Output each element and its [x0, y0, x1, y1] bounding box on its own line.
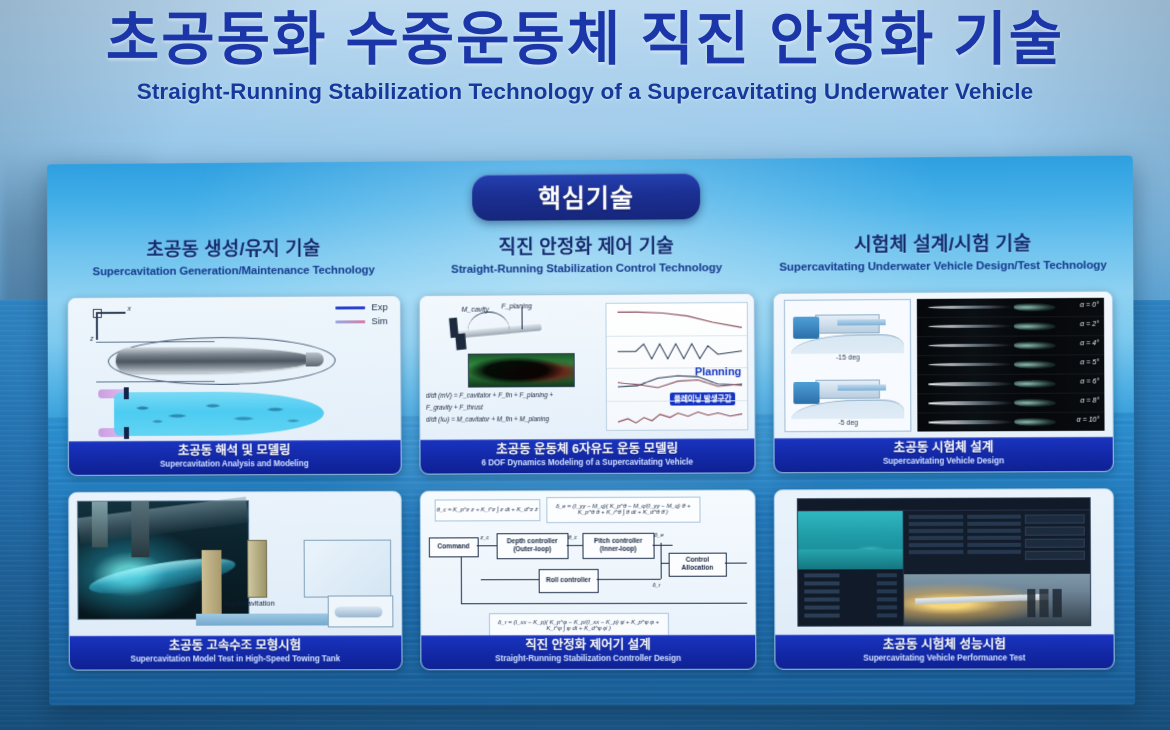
equation-depth-law: θ_c = K_p^z z + K_i^z ∫ z dt + K_d^z ż	[434, 499, 540, 521]
block-roll-controller: Roll controller	[538, 569, 598, 593]
column-supercavitation-generation: 초공동 생성/유지 기술 Supercavitation Generation/…	[67, 233, 402, 691]
card-caption-korean: 초공동 시험체 설계	[779, 440, 1109, 457]
shot-label: α = 10°	[1077, 417, 1100, 424]
plot-control-input	[607, 401, 747, 433]
vehicle-freebody-sketch	[433, 305, 551, 354]
cavitation-shot-strip: α = 0° α = 2° α = 4° α = 5° α = 6°	[917, 298, 1104, 432]
force-label-moment: M_cavity	[461, 307, 489, 314]
tank-struts	[88, 501, 177, 557]
right-pane	[904, 510, 1090, 625]
card-caption: 초공동 운동체 6자유도 운동 모델링 6 DOF Dynamics Model…	[420, 438, 755, 473]
poster-panel: 핵심기술 초공동 생성/유지 기술 Supercavitation Genera…	[47, 156, 1135, 706]
inset-vehicle	[334, 607, 382, 618]
card-figure: M_cavity F_planing d/dt (mV) = F_cavitat…	[419, 294, 754, 440]
card-caption: 초공동 시험체 설계 Supercavitating Vehicle Desig…	[775, 437, 1113, 472]
wire-sum-bus	[660, 543, 661, 579]
shot-alpha-10: α = 10°	[918, 413, 1105, 432]
card-performance-test: 초공동 시험체 성능시험 Supercavitating Vehicle Per…	[774, 488, 1115, 670]
equation-block: d/dt (mV) = F_cavitator + F_fin + F_plan…	[426, 390, 576, 427]
telemetry-list	[799, 569, 904, 625]
legend-item-sim: Sim	[336, 316, 388, 327]
signal-label-zc: z_c	[480, 535, 489, 541]
card-caption-korean: 초공동 시험체 성능시험	[780, 637, 1110, 653]
schematic-column-right	[247, 540, 267, 598]
cad-views: -15 deg -5 deg	[784, 299, 911, 432]
towing-tank-figure: Supercavitation	[69, 492, 401, 636]
card-caption: 초공동 시험체 성능시험 Supercavitating Vehicle Per…	[776, 634, 1114, 668]
axis-label-z: z	[90, 336, 93, 343]
card-towing-tank-test: Supercavitation 초공동 고속수조 모형시험 Supercavit…	[68, 491, 402, 671]
performance-test-figure	[775, 489, 1114, 635]
plot-pitch	[607, 368, 747, 401]
sixdof-figure: M_cavity F_planing d/dt (mV) = F_cavitat…	[419, 294, 754, 440]
cad-label-minus15: -15 deg	[786, 354, 911, 362]
shot-alpha-5: α = 5°	[917, 355, 1104, 375]
vehicle-tail	[306, 352, 324, 366]
core-technology-label: 핵심기술	[538, 179, 634, 216]
wire-feedback-bus	[461, 603, 747, 605]
equation-rotational: d/dt (Iω) = M_cavitator + M_fin + M_plan…	[426, 414, 576, 427]
equation-roll-law: δ_r = (I_xx − K_p)( K_p^φ − K_p/(I_xx − …	[489, 613, 669, 636]
figure-legend: Exp Sim	[336, 302, 388, 330]
axis-label-x: x	[127, 306, 130, 313]
video-preview	[798, 511, 903, 570]
cfd-cavity-diagram: x z Exp Sim	[68, 296, 400, 441]
equation-translational: d/dt (mV) = F_cavitator + F_fin + F_plan…	[426, 390, 576, 415]
card-figure	[775, 489, 1114, 635]
tank-schematic: Supercavitation	[196, 536, 395, 630]
legend-swatch-sim	[336, 320, 366, 323]
schematic-column-left	[202, 550, 222, 622]
column-title-english: Straight-Running Stabilization Control T…	[418, 262, 755, 276]
card-caption-english: Straight-Running Stabilization Controlle…	[425, 654, 752, 665]
design-figure: -15 deg -5 deg α = 0°	[774, 292, 1113, 439]
shot-alpha-8: α = 8°	[918, 394, 1105, 414]
card-caption-english: Supercavitation Analysis and Modeling	[73, 459, 397, 470]
column-title-english: Supercavitation Generation/Maintenance T…	[67, 264, 400, 278]
card-caption-korean: 초공동 해석 및 모델링	[73, 443, 397, 460]
cad-label-minus5: -5 deg	[786, 420, 911, 428]
column-vehicle-design-test: 시험체 설계/시험 기술 Supercavitating Underwater …	[773, 228, 1115, 691]
poster-screenshot: 초공동화 수중운동체 직진 안정화 기술 Straight-Running St…	[0, 0, 1170, 730]
shot-alpha-0: α = 0°	[917, 298, 1104, 318]
card-caption-english: Supercavitating Vehicle Design	[779, 456, 1109, 468]
schematic-label-supercavitation: Supercavitation	[224, 599, 275, 608]
card-vehicle-design: -15 deg -5 deg α = 0°	[773, 291, 1114, 474]
technology-columns: 초공동 생성/유지 기술 Supercavitation Generation/…	[67, 228, 1115, 691]
card-caption: 초공동 해석 및 모델링 Supercavitation Analysis an…	[69, 440, 401, 475]
plot-planing-region: Planning 플레이닝 발생구간	[607, 336, 747, 369]
legend-item-exp: Exp	[336, 302, 388, 313]
legend-label-sim: Sim	[371, 316, 387, 327]
left-pane	[798, 511, 904, 626]
wire-allocation-out	[724, 563, 746, 564]
signal-label-thetac: θ_c	[568, 535, 577, 541]
card-caption-korean: 초공동 고속수조 모형시험	[74, 638, 398, 654]
schematic-inset	[327, 596, 393, 628]
axis-indicator-icon: x z	[90, 306, 136, 344]
column-header: 시험체 설계/시험 기술 Supercavitating Underwater …	[773, 228, 1113, 293]
column-stabilization-control: 직진 안정화 제어 기술 Straight-Running Stabilizat…	[418, 231, 757, 691]
core-technology-banner: 핵심기술	[472, 173, 700, 221]
wire-pitch-sum	[652, 545, 672, 546]
shot-label: α = 5°	[1080, 359, 1099, 366]
wire-command-depth	[476, 545, 496, 546]
shot-label: α = 4°	[1080, 340, 1099, 347]
shot-alpha-6: α = 6°	[918, 374, 1105, 394]
card-caption-english: Supercavitation Model Test in High-Speed…	[74, 654, 398, 665]
card-figure: -15 deg -5 deg α = 0°	[774, 292, 1113, 439]
equation-pitch-law: δ_e = (I_yy − M_q)( K_p^θ − M_q/(I_yy − …	[546, 497, 700, 524]
block-depth-controller: Depth controller (Outer-loop)	[496, 533, 568, 559]
signal-label-elevator: δ_e	[654, 533, 663, 539]
block-pitch-controller: Pitch controller (Inner-loop)	[582, 533, 654, 559]
legend-label-exp: Exp	[371, 302, 387, 313]
cavitation-tunnel-photo	[468, 353, 575, 388]
card-6dof-modeling: M_cavity F_planing d/dt (mV) = F_cavitat…	[418, 293, 755, 475]
test-facility-photo	[904, 574, 1090, 626]
shot-label: α = 8°	[1080, 398, 1099, 405]
control-block-diagram: θ_c = K_p^z z + K_i^z ∫ z dt + K_d^z ż δ…	[420, 490, 755, 635]
card-caption: 초공동 고속수조 모형시험 Supercavitation Model Test…	[70, 635, 402, 669]
cad-view-minus15: -15 deg	[785, 300, 910, 366]
wire-feedback-vertical	[460, 557, 461, 603]
plot-depth	[607, 303, 747, 336]
cavity-bubble-texture	[128, 399, 306, 428]
card-figure: θ_c = K_p^z z + K_i^z ∫ z dt + K_d^z ż δ…	[420, 490, 755, 635]
card-caption-korean: 직진 안정화 제어기 설계	[425, 638, 752, 654]
column-title-korean: 초공동 생성/유지 기술	[67, 233, 400, 262]
poster-title-block: 초공동화 수중운동체 직진 안정화 기술 Straight-Running St…	[0, 8, 1170, 105]
block-control-allocation: Control Allocation	[668, 553, 726, 577]
shot-alpha-4: α = 4°	[917, 336, 1104, 356]
column-title-korean: 시험체 설계/시험 기술	[773, 228, 1113, 257]
poster-title-korean: 초공동화 수중운동체 직진 안정화 기술	[0, 8, 1170, 73]
schematic-tank-body	[303, 540, 391, 598]
wire-depth-pitch	[566, 545, 582, 546]
time-history-plots: Planning 플레이닝 발생구간	[606, 302, 749, 431]
wire-feedback-roll	[480, 579, 538, 580]
poster-title-english: Straight-Running Stabilization Technolog…	[0, 79, 1170, 105]
window-body	[798, 510, 1090, 625]
cavity-marker-top	[124, 387, 129, 399]
card-figure: x z Exp Sim	[68, 296, 400, 441]
parameter-panel	[904, 510, 1090, 574]
card-caption: 직진 안정화 제어기 설계 Straight-Running Stabiliza…	[421, 635, 756, 669]
column-title-english: Supercavitating Underwater Vehicle Desig…	[773, 259, 1113, 273]
shot-label: α = 0°	[1080, 302, 1099, 309]
legend-swatch-exp	[336, 306, 366, 309]
card-caption-english: 6 DOF Dynamics Modeling of a Supercavita…	[424, 457, 751, 469]
force-label-planing: F_planing	[501, 303, 532, 310]
signal-label-rudder: δ_r	[652, 583, 660, 589]
facility-people	[1027, 589, 1075, 617]
card-caption-english: Supercavitating Vehicle Performance Test	[780, 653, 1110, 664]
cad-view-minus5: -5 deg	[786, 365, 911, 431]
shot-alpha-2: α = 2°	[917, 317, 1104, 337]
shot-label: α = 2°	[1080, 321, 1099, 328]
wire-sum-allocation	[660, 563, 668, 564]
card-controller-design: θ_c = K_p^z z + K_i^z ∫ z dt + K_d^z ż δ…	[419, 489, 756, 670]
card-supercavitation-analysis: x z Exp Sim	[67, 295, 401, 476]
toolbar-icons	[995, 501, 1082, 506]
column-header: 직진 안정화 제어 기술 Straight-Running Stabilizat…	[418, 231, 755, 295]
test-software-window	[797, 497, 1091, 627]
block-command: Command	[429, 537, 479, 557]
cavity-marker-bottom	[124, 427, 129, 439]
card-figure: Supercavitation	[69, 492, 401, 636]
card-caption-korean: 초공동 운동체 6자유도 운동 모델링	[424, 441, 751, 458]
column-header: 초공동 생성/유지 기술 Supercavitation Generation/…	[67, 233, 401, 297]
wire-roll-sum	[596, 579, 660, 580]
window-toolbar	[798, 498, 1090, 511]
shot-label: α = 6°	[1080, 378, 1099, 385]
column-title-korean: 직진 안정화 제어 기술	[418, 231, 755, 260]
